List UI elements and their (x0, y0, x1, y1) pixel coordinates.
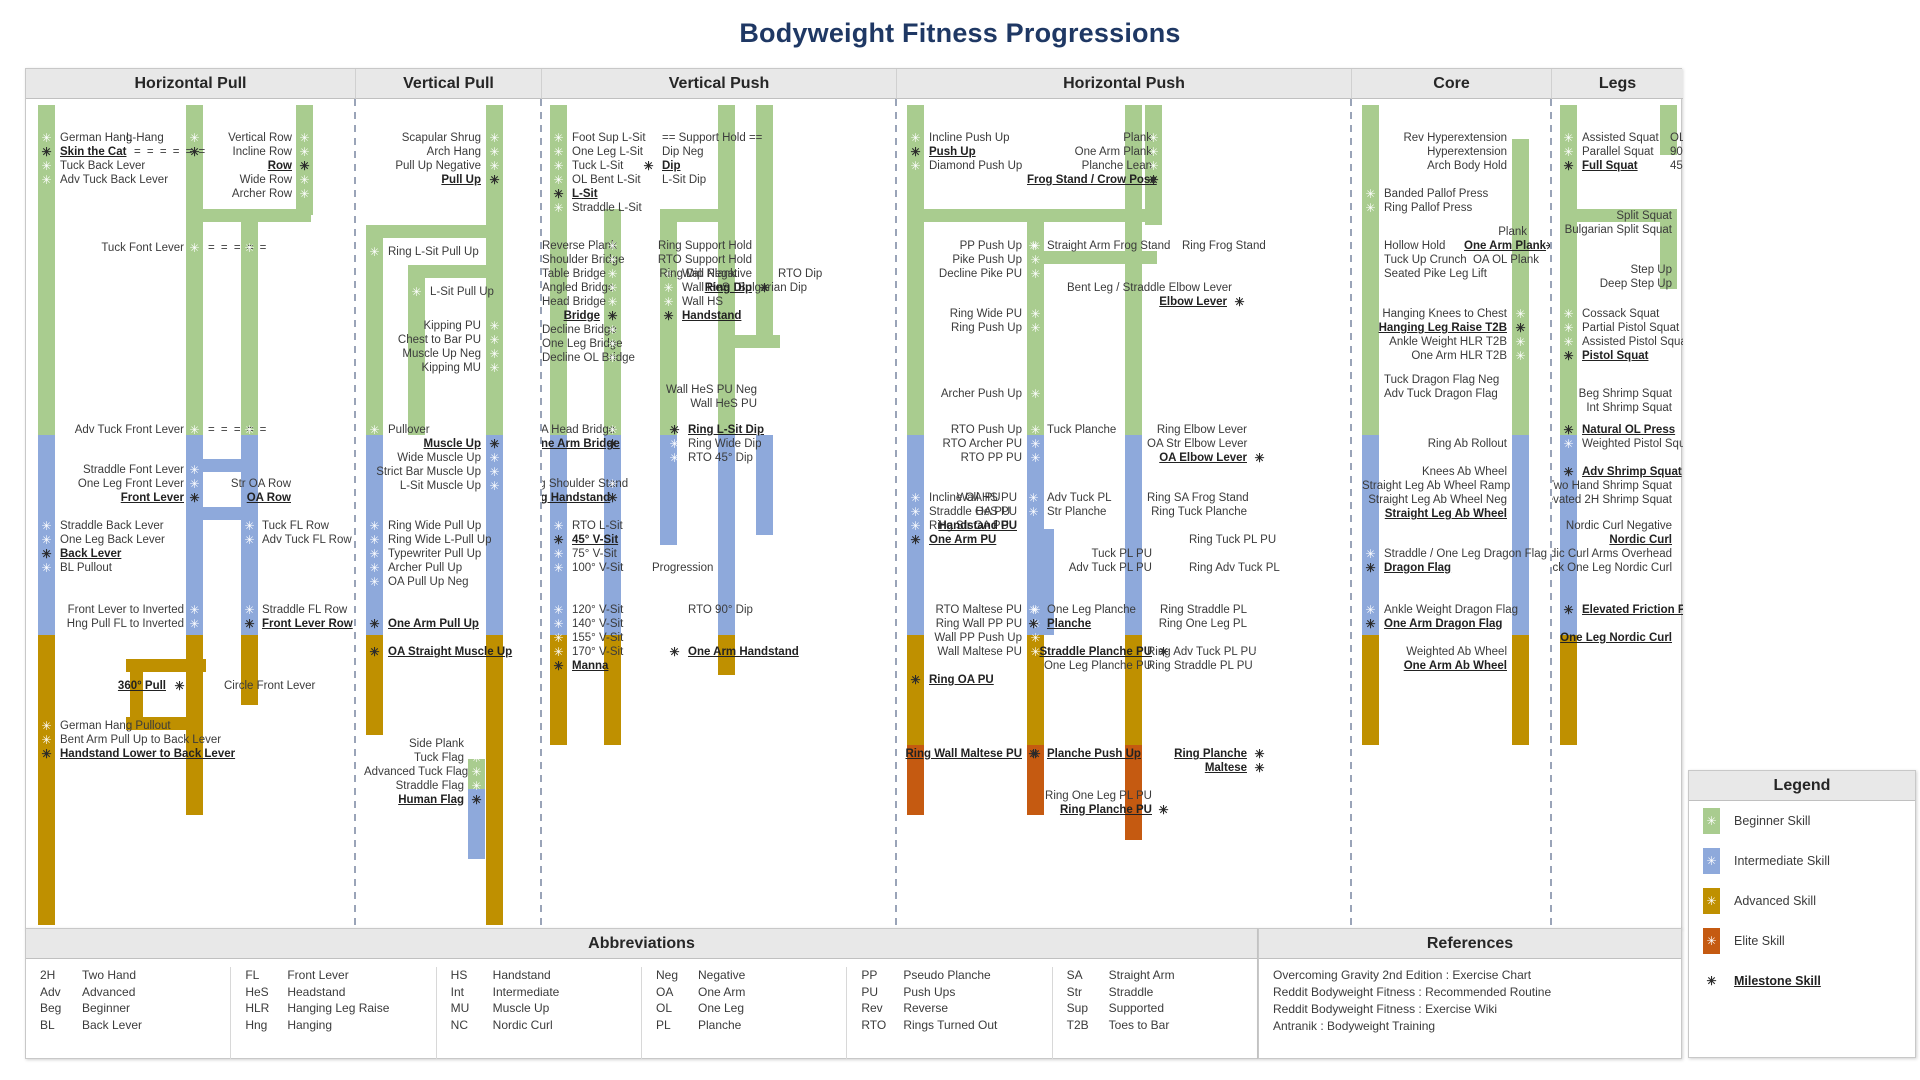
legend-label-advanced: Advanced Skill (1734, 894, 1816, 908)
reference-item: Reddit Bodyweight Fitness : Exercise Wik… (1273, 1001, 1681, 1018)
skill-tuck-back-lever: Tuck Back Lever (60, 159, 200, 173)
column-header-vertical-pull: Vertical Pull (356, 69, 542, 99)
column-header-horizontal-pull: Horizontal Pull (26, 69, 356, 99)
abbrev-value: Muscle Up (493, 1000, 550, 1017)
marker-milestone: ✳ (907, 145, 924, 159)
band-core-a-advanced (1362, 635, 1379, 745)
marker-elite: ✳ (1155, 789, 1172, 803)
abbrev-key: HeS (245, 984, 287, 1001)
skill-german-hang-pullout: German Hang Pullout (60, 719, 240, 733)
skill-rto-push-up: RTO Push Up (917, 423, 1022, 437)
skill-oa-elbow-lever: OA Elbow Lever (1147, 451, 1247, 465)
marker-milestone: ✳ (1251, 747, 1268, 761)
skill-back-lever: Back Lever (60, 547, 210, 561)
skill-ring-wide-l-pull-up: Ring Wide L-Pull Up (388, 533, 513, 547)
skill-rto-support-hold: RTO Support Hold (632, 253, 752, 267)
marker-milestone: ✳ (486, 437, 503, 451)
skill-rto-maltese-pu: RTO Maltese PU (917, 603, 1022, 617)
marker-intermediate: ✳ (550, 547, 567, 561)
skill-wide-muscle-up: Wide Muscle Up (374, 451, 481, 465)
marker-milestone: ✳ (468, 793, 485, 807)
skill-one-leg-nordic-curl: One Leg Nordic Curl (1552, 631, 1672, 645)
skill-dip: Dip (662, 159, 782, 173)
marker-milestone: ✳ (1231, 295, 1248, 309)
marker-advanced: ✳ (550, 631, 567, 645)
references-header: References (1259, 929, 1681, 959)
skill-ring-planche-pu: Ring Planche PU (1027, 803, 1152, 817)
legend-item-milestone: ✳ Milestone Skill (1689, 961, 1915, 1001)
abbreviations-group: PPPseudo Planche PUPush Ups RevReverse R… (847, 967, 1052, 1059)
marker-intermediate: ✳ (1362, 547, 1379, 561)
marker-advanced: ✳ (186, 617, 203, 631)
marker-advanced: ✳ (1025, 603, 1042, 617)
legend-item-elite: ✳ Elite Skill (1689, 921, 1915, 961)
abbrev-key: OA (656, 984, 698, 1001)
marker-intermediate: ✳ (486, 451, 503, 465)
marker-intermediate: ✳ (1155, 547, 1172, 561)
column-body-horizontal-pull: German Hang L-Hang ✳ ✳ Skin the Cat = = … (26, 99, 354, 928)
skill-ring-shoulder-stand: Ring Shoulder Stand (542, 477, 600, 491)
skill-side-plank: Side Plank (374, 737, 464, 751)
skill-pull-up-negative: Pull Up Negative (366, 159, 481, 173)
skill-rto-l-sit: RTO L-Sit (572, 519, 682, 533)
marker-beginner: ✳ (604, 267, 621, 281)
marker-advanced: ✳ (1362, 603, 1379, 617)
column-body-core: Rev Hyperextension Hyperextension Arch B… (1352, 99, 1550, 928)
marker-beginner: ✳ (1512, 349, 1529, 363)
abbreviation-item: PLPlanche (656, 1017, 846, 1034)
skill-decline-pike-pu: Decline Pike PU (917, 267, 1022, 281)
skill-bent-leg-straddle-elbow-lever: Bent Leg / Straddle Elbow Lever (1067, 281, 1227, 295)
marker-beginner: ✳ (486, 347, 503, 361)
reference-item: Reddit Bodyweight Fitness : Recommended … (1273, 984, 1681, 1001)
skill-elevated-2h-shrimp-squat: Elevated 2H Shrimp Squat (1552, 493, 1672, 507)
marker-beginner: ✳ (604, 239, 621, 253)
skill-int-shrimp-squat: Int Shrimp Squat (1552, 401, 1672, 415)
abbreviations-group: FLFront Lever HeSHeadstand HLRHanging Le… (231, 967, 436, 1059)
skill-handstand-pu: Handstand PU (897, 519, 1017, 533)
skill-straight-leg-ab-wheel: Straight Leg Ab Wheel (1362, 507, 1507, 521)
abbrev-key: HS (451, 967, 493, 984)
marker-advanced: ✳ (1251, 603, 1268, 617)
abbreviation-item: HLRHanging Leg Raise (245, 1000, 435, 1017)
marker-beginner: ✳ (604, 281, 621, 295)
column-body-legs: Assisted Squat ✳ OL Deadlift Parallel Sq… (1552, 99, 1683, 928)
marker-beginner: ✳ (604, 295, 621, 309)
skill-one-arm-plank-core: One Arm Plank (1464, 239, 1539, 253)
skill-advanced-tuck-flag: Advanced Tuck Flag (364, 765, 464, 779)
skill-oa-ol-plank: OA OL Plank (1472, 253, 1539, 267)
marker-beginner: ✳ (550, 159, 567, 173)
marker-beginner: ✳ (1560, 335, 1577, 349)
marker-beginner: ✳ (486, 333, 503, 347)
skill-nordic-curl-negative: Nordic Curl Negative (1552, 519, 1672, 533)
skill-planche: Planche (1047, 617, 1157, 631)
reference-item: Overcoming Gravity 2nd Edition : Exercis… (1273, 967, 1681, 984)
skill-handstand-lower-to-back-lever: Handstand Lower to Back Lever (60, 747, 270, 761)
marker-milestone: ✳ (1560, 159, 1577, 173)
marker-milestone: ✳ (604, 437, 621, 451)
skill-kipping-mu: Kipping MU (374, 361, 481, 375)
marker-beginner: ✳ (486, 361, 503, 375)
skill-ring-tuck-planche: Ring Tuck Planche (1147, 505, 1247, 519)
skill-wall-hes-pu-neg: Wall HeS PU Neg (632, 383, 757, 397)
skill-typewriter-pull-up: Typewriter Pull Up (388, 547, 513, 561)
marker-milestone: ✳ (1542, 239, 1550, 253)
abbreviations-panel: Abbreviations 2HTwo Hand AdvAdvanced Beg… (25, 928, 1258, 1059)
skill-one-arm-hlr-t2b: One Arm HLR T2B (1377, 349, 1507, 363)
skill-archer-row: Archer Row (204, 187, 292, 201)
skill-adv-tuck-dragon-flag: Adv Tuck Dragon Flag (1384, 387, 1524, 401)
marker-intermediate: ✳ (1027, 451, 1044, 465)
skill-maltese: Maltese (1147, 761, 1247, 775)
marker-milestone: ✳ (550, 659, 567, 673)
skill-l-hang: L-Hang (126, 131, 186, 145)
skill-partial-pistol-squat: Partial Pistol Squat (1582, 321, 1683, 335)
skill-tuck-fl-row: Tuck FL Row (262, 519, 352, 533)
marker-intermediate: ✳ (366, 547, 383, 561)
marker-milestone: ✳ (1025, 617, 1042, 631)
marker-beginner: ✳ (366, 245, 383, 259)
skill-hyperextension: Hyperextension (1402, 145, 1507, 159)
abbrev-key: Adv (40, 984, 82, 1001)
skill-cossack-squat: Cossack Squat (1582, 307, 1683, 321)
marker-milestone: ✳ (1362, 617, 1379, 631)
marker-beginner: ✳ (486, 319, 503, 333)
marker-milestone: ✳ (640, 159, 657, 173)
skill-hes-pu: HeS PU (897, 505, 1017, 519)
legend-swatch-intermediate: ✳ (1703, 848, 1720, 874)
marker-milestone: ✳ (666, 423, 683, 437)
legend-item-intermediate: ✳ Intermediate Skill (1689, 841, 1915, 881)
abbrev-value: Negative (698, 967, 745, 984)
skill-ring-dip-negative: Ring Dip Negative (632, 267, 752, 281)
abbrev-key: MU (451, 1000, 493, 1017)
marker-intermediate: ✳ (1027, 437, 1044, 451)
marker-beginner: ✳ (486, 159, 503, 173)
marker-beginner: ✳ (1145, 159, 1162, 173)
skill-pullover: Pullover (388, 423, 488, 437)
band-core-a-beginner (1362, 105, 1379, 435)
marker-beginner: ✳ (38, 131, 55, 145)
skill-kipping-pu: Kipping PU (374, 319, 481, 333)
skill-tuck-planche: Tuck Planche (1047, 423, 1157, 437)
skill-tuck-font-lever: Tuck Font Lever (66, 241, 184, 255)
column-header-horizontal-push: Horizontal Push (897, 69, 1352, 99)
abbrev-value: Supported (1109, 1000, 1164, 1017)
column-header-vertical-push: Vertical Push (542, 69, 897, 99)
marker-milestone: ✳ (1512, 321, 1529, 335)
skill-adv-tuck-pl-pu: Adv Tuck PL PU (1057, 561, 1152, 575)
abbrev-value: Hanging (287, 1017, 332, 1034)
marker-beginner: ✳ (408, 285, 425, 299)
abbreviation-item: AdvAdvanced (40, 984, 230, 1001)
band-hp-c-advanced (241, 635, 258, 705)
skill-ring-wide-pull-up: Ring Wide Pull Up (388, 519, 508, 533)
legend-swatch-milestone: ✳ (1703, 968, 1720, 994)
skill-shoulder-bridge: Shoulder Bridge (542, 253, 600, 267)
marker-beginner: ✳ (241, 241, 258, 255)
skill-oa-pull-up-neg: OA Pull Up Neg (388, 575, 513, 589)
abbreviation-item: OLOne Leg (656, 1000, 846, 1017)
marker-advanced: ✳ (1251, 645, 1268, 659)
marker-intermediate: ✳ (550, 561, 567, 575)
skill-wall-hs-pu: Wall HS PU (897, 491, 1017, 505)
column-body-vertical-pull: Scapular Shrug ✳ Arch Hang ✳ Pull Up Neg… (356, 99, 540, 928)
abbrev-key: Beg (40, 1000, 82, 1017)
abbrev-value: Straddle (1109, 984, 1154, 1001)
marker-beginner: ✳ (296, 187, 313, 201)
marker-advanced: ✳ (550, 603, 567, 617)
abbrev-value: Straight Arm (1109, 967, 1175, 984)
skill-rto-archer-pu: RTO Archer PU (917, 437, 1022, 451)
abbrev-value: Advanced (82, 984, 135, 1001)
skill-ring-pallof-press: Ring Pallof Press (1384, 201, 1514, 215)
skill-ol-deadlift: OL Deadlift (1670, 131, 1683, 145)
skill-archer-push-up: Archer Push Up (917, 387, 1022, 401)
marker-beginner: ✳ (486, 131, 503, 145)
abbrev-key: OL (656, 1000, 698, 1017)
skill-bridge: Bridge (542, 309, 600, 323)
marker-beginner: ✳ (604, 337, 621, 351)
marker-milestone: ✳ (296, 159, 313, 173)
marker-advanced: ✳ (1027, 631, 1044, 645)
skill-one-leg-planche: One Leg Planche (1047, 603, 1157, 617)
marker-beginner: ✳ (186, 241, 203, 255)
skill-ring-dip: Ring Dip (632, 281, 752, 295)
abbrev-value: Rings Turned Out (903, 1017, 997, 1034)
abbrev-value: Pseudo Planche (903, 967, 990, 984)
abbreviation-item: SupSupported (1067, 1000, 1257, 1017)
skill-support-hold: == Support Hold == (662, 131, 782, 145)
references-panel: References Overcoming Gravity 2nd Editio… (1258, 928, 1682, 1059)
marker-intermediate: ✳ (1560, 437, 1577, 451)
abbrev-value: Push Ups (903, 984, 955, 1001)
marker-beginner: ✳ (1027, 253, 1044, 267)
skill-rev-hyperextension: Rev Hyperextension (1402, 131, 1507, 145)
legend-item-advanced: ✳ Advanced Skill (1689, 881, 1915, 921)
connector-hpu-1 (907, 209, 1147, 222)
marker-intermediate: ✳ (186, 423, 203, 437)
abbreviation-item: IntIntermediate (451, 984, 641, 1001)
abbrev-value: Headstand (287, 984, 345, 1001)
skill-one-arm-plank: One Arm Plank (1057, 145, 1152, 159)
skill-360-pull: 360° Pull (66, 679, 166, 693)
marker-milestone: ✳ (1251, 761, 1268, 775)
marker-milestone: ✳ (1560, 603, 1577, 617)
skill-weighted-pistol-squat: Weighted Pistol Squat (1582, 437, 1683, 451)
abbrev-key: PP (861, 967, 903, 984)
skill-assisted-squat: Assisted Squat (1582, 131, 1672, 145)
abbreviation-item: FLFront Lever (245, 967, 435, 984)
abbrev-key: Sup (1067, 1000, 1109, 1017)
marker-beginner: ✳ (604, 323, 621, 337)
skill-table-bridge: Table Bridge (542, 267, 600, 281)
skill-ring-l-sit-pull-up: Ring L-Sit Pull Up (388, 245, 508, 259)
abbreviation-item: SAStraight Arm (1067, 967, 1257, 984)
skill-ring-adv-tuck-pl: Ring Adv Tuck PL (1189, 561, 1299, 575)
skill-one-arm-pull-up: One Arm Pull Up (388, 617, 518, 631)
skill-one-leg-bridge: One Leg Bridge (542, 337, 600, 351)
skill-pistol-squat: Pistol Squat (1582, 349, 1683, 363)
skill-straddle-font-lever: Straddle Font Lever (56, 463, 184, 477)
marker-intermediate: ✳ (38, 533, 55, 547)
abbreviations-group: HSHandstand IntIntermediate MUMuscle Up … (437, 967, 642, 1059)
skill-rto-45-dip: RTO 45° Dip (688, 451, 798, 465)
marker-beginner: ✳ (550, 145, 567, 159)
skill-diamond-push-up: Diamond Push Up (929, 159, 1059, 173)
marker-intermediate: ✳ (366, 561, 383, 575)
abbrev-key: RTO (861, 1017, 903, 1034)
marker-milestone: ✳ (550, 187, 567, 201)
skill-muscle-up: Muscle Up (374, 437, 481, 451)
marker-beginner: ✳ (550, 201, 567, 215)
marker-intermediate: ✳ (468, 765, 485, 779)
abbrev-value: Intermediate (493, 984, 560, 1001)
marker-beginner: ✳ (907, 131, 924, 145)
skill-beg-shrimp-squat: Beg Shrimp Squat (1552, 387, 1672, 401)
skill-oa-straight-muscle-up: OA Straight Muscle Up (388, 645, 538, 659)
skill-wall-hs: Wall HS (682, 295, 752, 309)
marker-beginner: ✳ (1512, 335, 1529, 349)
legend-label-milestone: Milestone Skill (1734, 974, 1821, 988)
abbreviation-item: NegNegative (656, 967, 846, 984)
skill-muscle-up-neg: Muscle Up Neg (374, 347, 481, 361)
marker-advanced: ✳ (1251, 659, 1268, 673)
marker-intermediate: ✳ (38, 519, 55, 533)
abbrev-value: Toes to Bar (1109, 1017, 1170, 1034)
marker-beginner: ✳ (186, 131, 203, 145)
skill-tuck-up-crunch: Tuck Up Crunch (1384, 253, 1484, 267)
skill-one-arm-ab-wheel: One Arm Ab Wheel (1392, 659, 1507, 673)
skill-progression-label: Progression (652, 561, 742, 575)
marker-milestone: ✳ (186, 145, 203, 159)
skill-wall-maltese-pu: Wall Maltese PU (917, 645, 1022, 659)
skill-planche-lean: Planche Lean (1057, 159, 1152, 173)
marker-milestone: ✳ (907, 673, 924, 687)
abbrev-value: Front Lever (287, 967, 348, 984)
marker-beginner: ✳ (550, 173, 567, 187)
marker-milestone: ✳ (38, 747, 55, 761)
skill-one-leg-front-lever: One Leg Front Lever (56, 477, 184, 491)
marker-advanced: ✳ (202, 679, 219, 693)
skill-75-v-sit: 75° V-Sit (572, 547, 682, 561)
legend-swatch-elite: ✳ (1703, 928, 1720, 954)
abbrev-value: Handstand (493, 967, 551, 984)
abbrev-value: Nordic Curl (493, 1017, 553, 1034)
marker-intermediate: ✳ (366, 519, 383, 533)
band-legs-a-advanced (1560, 635, 1577, 745)
skill-adv-tuck-pl: Adv Tuck PL (1047, 491, 1147, 505)
skill-ankle-weight-dragon-flag: Ankle Weight Dragon Flag (1384, 603, 1524, 617)
legend-label-beginner: Beginner Skill (1734, 814, 1810, 828)
band-core-b-advanced (1512, 635, 1529, 745)
abbrev-key: T2B (1067, 1017, 1109, 1034)
connector-equals: = = = = = (208, 423, 268, 437)
connector-vpu-1 (718, 335, 780, 348)
skill-rto-90-dip: RTO 90° Dip (688, 603, 798, 617)
abbrev-value: Reverse (903, 1000, 948, 1017)
skill-plank: Plank (1057, 131, 1152, 145)
skill-ring-wide-dip: Ring Wide Dip (688, 437, 798, 451)
skill-arch-body-hold: Arch Body Hold (1402, 159, 1507, 173)
skill-front-lever-row: Front Lever Row (262, 617, 354, 631)
abbreviation-item: T2BToes to Bar (1067, 1017, 1257, 1034)
marker-intermediate: ✳ (1155, 561, 1172, 575)
connector-vp-1 (366, 225, 496, 238)
skill-155-v-sit: 155° V-Sit (572, 631, 682, 645)
marker-beginner: ✳ (1145, 145, 1162, 159)
skill-oa-str-elbow-lever: OA Str Elbow Lever (1147, 437, 1247, 451)
abbrev-value: One Leg (698, 1000, 744, 1017)
marker-milestone: ✳ (366, 645, 383, 659)
skill-row: Row (204, 159, 292, 173)
page-title: Bodyweight Fitness Progressions (0, 18, 1920, 49)
abbreviation-item: PUPush Ups (861, 984, 1051, 1001)
marker-milestone: ✳ (186, 491, 203, 505)
marker-milestone: ✳ (604, 491, 621, 505)
skill-ring-wall-maltese-pu: Ring Wall Maltese PU (897, 747, 1022, 761)
skill-one-arm-bridge: One Arm Bridge (542, 437, 600, 451)
marker-intermediate: ✳ (38, 561, 55, 575)
marker-milestone: ✳ (241, 617, 258, 631)
abbreviation-item: RTORings Turned Out (861, 1017, 1051, 1034)
abbrev-key: PU (861, 984, 903, 1001)
skill-tuck-dragon-flag-neg: Tuck Dragon Flag Neg (1384, 373, 1524, 387)
band-vp-a-advanced (486, 635, 503, 925)
skill-banded-pallof-press: Banded Pallof Press (1384, 187, 1514, 201)
skill-circle-front-lever: Circle Front Lever (224, 679, 344, 693)
skill-natural-ol-press: Natural OL Press (1582, 423, 1683, 437)
skill-tuck-pl-pu: Tuck PL PU (1057, 547, 1152, 561)
marker-beginner: ✳ (604, 351, 621, 365)
skill-step-up: Step Up (1562, 263, 1672, 277)
marker-advanced: ✳ (186, 603, 203, 617)
marker-beginner: ✳ (296, 145, 313, 159)
skill-assisted-pistol-squat: Assisted Pistol Squat (1582, 335, 1683, 349)
abbrev-key: Neg (656, 967, 698, 984)
abbrev-key: NC (451, 1017, 493, 1034)
marker-beginner: ✳ (550, 131, 567, 145)
abbreviation-item: MUMuscle Up (451, 1000, 641, 1017)
skill-straddle-back-lever: Straddle Back Lever (60, 519, 210, 533)
legend-item-beginner: ✳ Beginner Skill (1689, 801, 1915, 841)
marker-intermediate: ✳ (366, 423, 383, 437)
abbrev-key: HLR (245, 1000, 287, 1017)
skill-wall-hes-pu: Wall HeS PU (632, 397, 757, 411)
marker-milestone: ✳ (38, 547, 55, 561)
skill-str-oa-row: Str OA Row (206, 477, 291, 491)
marker-beginner: ✳ (1027, 307, 1044, 321)
skill-full-squat: Full Squat (1582, 159, 1672, 173)
marker-beginner: ✳ (486, 145, 503, 159)
abbreviation-item: RevReverse (861, 1000, 1051, 1017)
skill-ring-ab-rollout: Ring Ab Rollout (1407, 437, 1507, 451)
skill-tuck-one-leg-nordic-curl: Tuck One Leg Nordic Curl (1552, 561, 1672, 575)
skill-45-v-sit: 45° V-Sit (572, 533, 682, 547)
abbrev-value: Beginner (82, 1000, 130, 1017)
skill-seated-pike-leg-lift: Seated Pike Leg Lift (1384, 267, 1494, 281)
skill-bulgarian-dip: Bulgarian Dip (738, 281, 833, 295)
marker-milestone: ✳ (1362, 561, 1379, 575)
marker-beginner: ✳ (640, 173, 657, 187)
abbreviations-group: SAStraight Arm StrStraddle SupSupported … (1053, 967, 1257, 1059)
column-header-legs: Legs (1552, 69, 1683, 99)
skill-ring-straddle-pl: Ring Straddle PL (1147, 603, 1247, 617)
skill-split-squat: Split Squat (1562, 209, 1672, 223)
marker-beginner: ✳ (604, 253, 621, 267)
abbrev-value: Back Lever (82, 1017, 142, 1034)
